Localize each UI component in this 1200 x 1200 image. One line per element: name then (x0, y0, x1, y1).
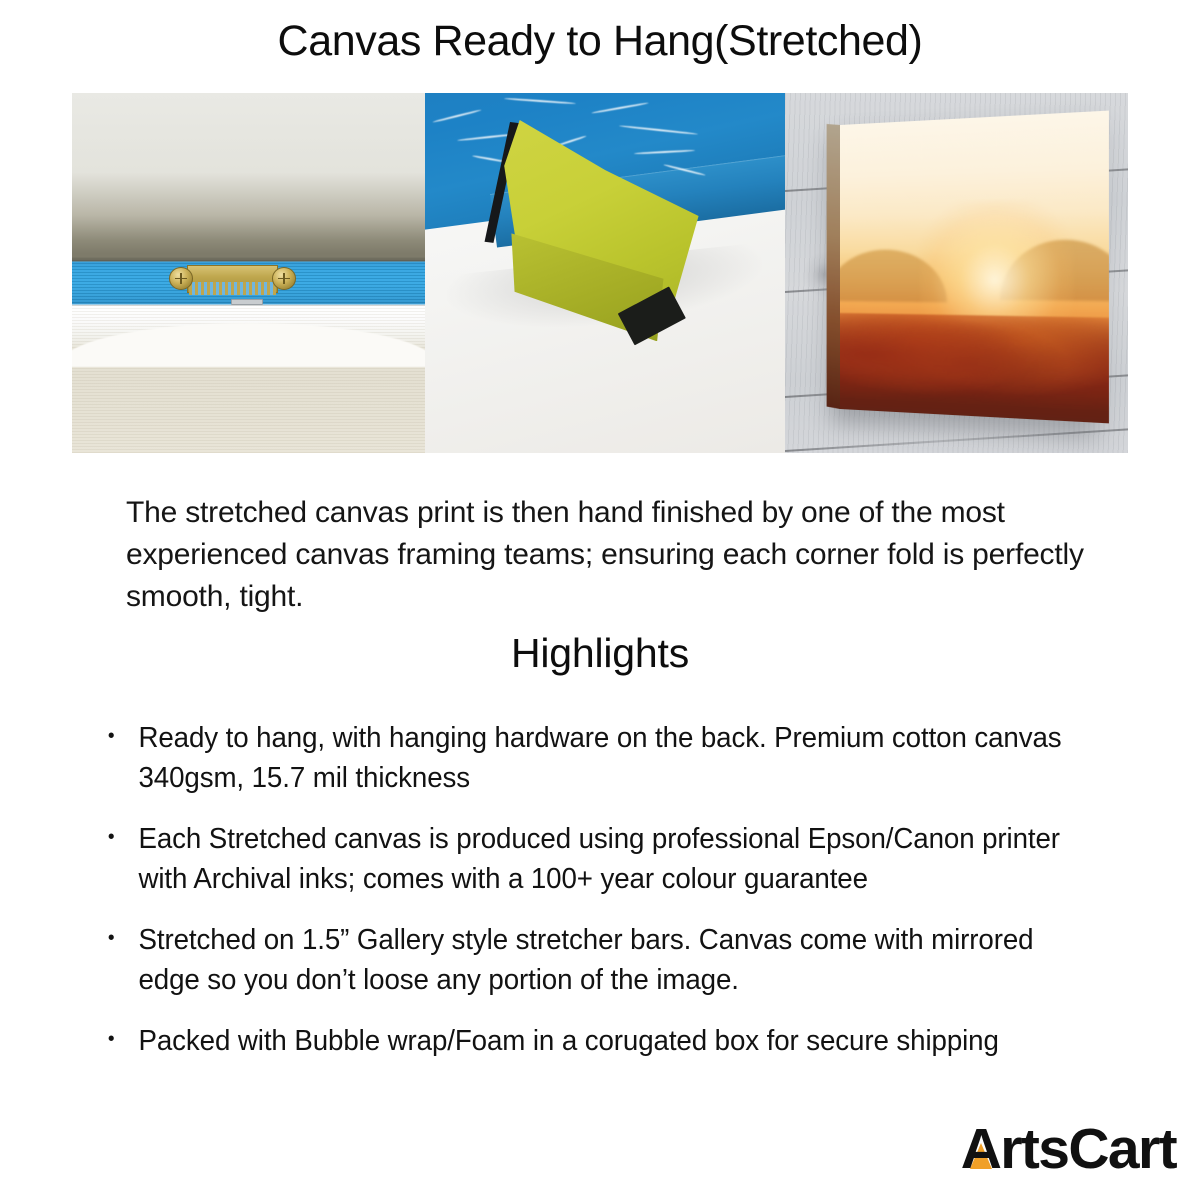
photo-corner-fold-detail (425, 93, 785, 453)
highlights-list: Ready to hang, with hanging hardware on … (106, 718, 1116, 1082)
list-item: Stretched on 1.5” Gallery style stretche… (106, 920, 1071, 1000)
hanger-screw-right (272, 267, 296, 290)
foreground-foliage (840, 313, 1109, 424)
sawtooth-hanger-icon (169, 262, 296, 297)
hung-canvas-print (840, 111, 1109, 424)
canvas-side-edge (826, 124, 839, 409)
intro-paragraph: The stretched canvas print is then hand … (126, 492, 1086, 618)
logo-wordmark: rtsCart (1000, 1121, 1176, 1178)
logo-letter-a: A (961, 1121, 1001, 1178)
hanger-teeth (189, 282, 275, 294)
artscart-logo: A rtsCart (961, 1121, 1176, 1178)
page-title: Canvas Ready to Hang(Stretched) (0, 0, 1200, 65)
sunset-landscape-artwork (840, 111, 1109, 424)
product-photo-strip (72, 93, 1128, 453)
wall-bracket-tab (231, 299, 263, 305)
highlights-heading: Highlights (0, 630, 1200, 677)
photo-canvas-back-hardware (72, 93, 425, 453)
list-item: Each Stretched canvas is produced using … (106, 819, 1071, 899)
hanger-screw-left (169, 267, 193, 290)
photo-hung-canvas-on-wall (785, 93, 1128, 453)
list-item: Ready to hang, with hanging hardware on … (106, 718, 1071, 798)
list-item: Packed with Bubble wrap/Foam in a coruga… (106, 1021, 1071, 1061)
logo-a-glyph: A (961, 1117, 1001, 1181)
